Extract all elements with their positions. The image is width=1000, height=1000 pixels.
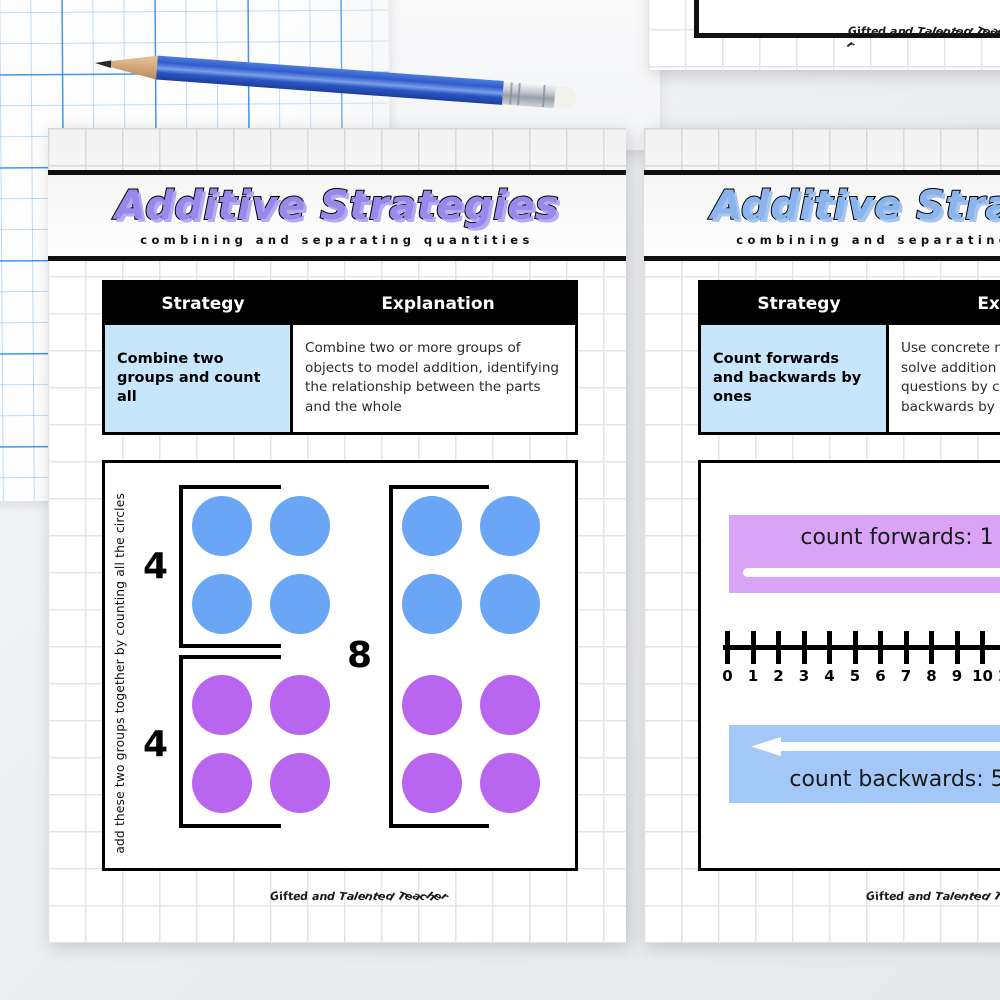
table-header-row: Strategy Explanation [105, 283, 575, 325]
dot [480, 753, 540, 813]
group-two-dots [192, 675, 330, 813]
number-line-tick [725, 631, 730, 664]
strategy-table: Strategy Explanation Combine two groups … [102, 280, 578, 435]
group-two-count: 4 [143, 727, 168, 763]
page-top-right: Gifted and Talented Teacher [648, 0, 1000, 70]
table-header-strategy: Strategy [105, 283, 301, 325]
number-line-label: 9 [952, 667, 962, 685]
dot [270, 496, 330, 556]
watermark-top-right: Gifted and Talented Teacher [848, 25, 1000, 51]
number-line-tick [929, 631, 934, 664]
dot [402, 675, 462, 735]
number-line-label: 8 [926, 667, 936, 685]
table-cell-strategy: Combine two groups and count all [105, 325, 293, 432]
number-line-tick [980, 631, 985, 664]
dot [480, 574, 540, 634]
dot [192, 675, 252, 735]
dot [480, 496, 540, 556]
table-cell-explanation: Use concrete materials to model and solv… [889, 325, 1000, 432]
count-backwards-label: count backwards: 5 4 3 2 1 [789, 767, 1000, 792]
number-line: 012345678910111213141516 [723, 631, 1000, 689]
number-line-tick [827, 631, 832, 664]
page-right: Additive Strategies combining and separa… [644, 128, 1000, 943]
combined-dots-blue [402, 496, 540, 634]
number-line-label: 4 [824, 667, 834, 685]
number-line-label: 0 [722, 667, 732, 685]
number-line-tick [776, 631, 781, 664]
table-header-explanation: Explanation [301, 283, 575, 325]
page-title: Additive Strategies [644, 175, 1000, 229]
number-line-label: 7 [901, 667, 911, 685]
page-subtitle: combining and separating quantities [644, 229, 1000, 256]
strategy-table: Strategy Explanation Count forwards and … [698, 280, 1000, 435]
combined-dots-purple [402, 675, 540, 813]
dot [270, 574, 330, 634]
number-line-label: 3 [799, 667, 809, 685]
number-line-tick [853, 631, 858, 664]
diagram-vertical-label: add these two groups together by countin… [113, 493, 127, 854]
page-left-banner: Additive Strategies combining and separa… [48, 170, 626, 261]
number-line-label: 10 [972, 667, 993, 685]
number-line-tick [751, 631, 756, 664]
number-line-label: 6 [875, 667, 885, 685]
dot [402, 753, 462, 813]
table-header-explanation: Explanation [897, 283, 1000, 325]
page-right-banner: Additive Strategies combining and separa… [644, 170, 1000, 261]
watermark-right-page: Gifted and Talented Teacher [866, 890, 1000, 903]
dot [402, 496, 462, 556]
count-forwards-label: count forwards: 1 2 3 4 5 [800, 525, 1000, 550]
dot [270, 675, 330, 735]
table-header-strategy: Strategy [701, 283, 897, 325]
dot [402, 574, 462, 634]
dot [270, 753, 330, 813]
dot [480, 675, 540, 735]
group-one-dots [192, 496, 330, 634]
page-left: Additive Strategies combining and separa… [48, 128, 626, 943]
count-backwards-strip: count backwards: 5 4 3 2 1 [729, 725, 1000, 803]
number-line-tick [878, 631, 883, 664]
number-line-tick [955, 631, 960, 664]
counting-diagram: add these two groups together by countin… [102, 460, 578, 871]
number-line-label: 2 [773, 667, 783, 685]
count-forwards-strip: count forwards: 1 2 3 4 5 [729, 515, 1000, 593]
table-row: Combine two groups and count all Combine… [105, 325, 575, 432]
table-cell-strategy: Count forwards and backwards by ones [701, 325, 889, 432]
number-line-tick [802, 631, 807, 664]
number-line-tick [904, 631, 909, 664]
table-header-row: Strategy Explanation [701, 283, 1000, 325]
dot [192, 753, 252, 813]
number-line-label: 1 [748, 667, 758, 685]
watermark-left-page: Gifted and Talented Teacher [270, 890, 447, 903]
page-title: Additive Strategies [48, 175, 626, 229]
backwards-arrow-icon [743, 735, 1000, 757]
dot [192, 496, 252, 556]
group-one-count: 4 [143, 549, 168, 585]
page-subtitle: combining and separating quantities [48, 229, 626, 256]
number-line-label: 5 [850, 667, 860, 685]
table-cell-explanation: Combine two or more groups of objects to… [293, 325, 575, 432]
counting-activity: count forwards: 1 2 3 4 5 01234567891011… [698, 460, 1000, 871]
total-count: 8 [347, 638, 372, 674]
forwards-arrow-icon [743, 561, 1000, 583]
dot [192, 574, 252, 634]
table-row: Count forwards and backwards by ones Use… [701, 325, 1000, 432]
